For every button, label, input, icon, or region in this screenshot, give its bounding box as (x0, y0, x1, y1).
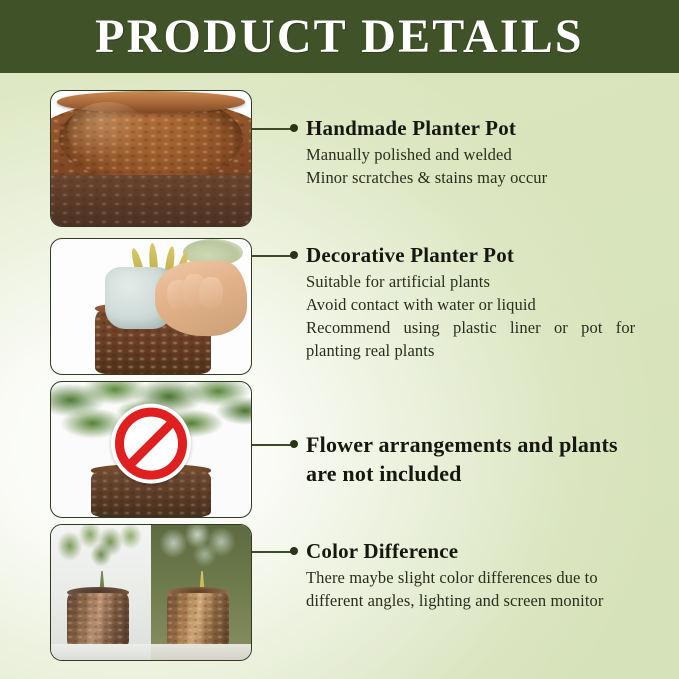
connector-line-3 (252, 444, 292, 446)
photo-outdoor-lighting (151, 525, 251, 660)
section-line-2-3: Recommend using plastic liner or pot for (306, 316, 672, 339)
section-line-1-2: Minor scratches & stains may occur (306, 166, 672, 189)
section-line-4-2: different angles, lighting and screen mo… (306, 589, 672, 612)
section-heading-4: Color Difference (306, 538, 672, 564)
text-block-1: Handmade Planter Pot Manually polished a… (306, 115, 672, 189)
connector-dot-4 (290, 547, 298, 555)
color-comparison-two-photos (50, 524, 252, 661)
section-line-4-1: There maybe slight color differences due… (306, 566, 672, 589)
header-band: PRODUCT DETAILS (0, 0, 679, 73)
section-line-1-1: Manually polished and welded (306, 143, 672, 166)
section-line-2-1: Suitable for artificial plants (306, 270, 672, 293)
prohibition-icon (111, 403, 191, 483)
section-line-2-2: Avoid contact with water or liquid (306, 293, 672, 316)
copper-hammered-pot-interior-photo (50, 90, 252, 227)
section-heading-3-line-1: Flower arrangements and plants (306, 431, 672, 458)
connector-line-4 (252, 551, 292, 553)
hand-placing-liner-pot-photo (50, 238, 252, 375)
connector-line-2 (252, 255, 292, 257)
product-details-poster: PRODUCT DETAILS Handmade Planter Pot Man… (0, 0, 679, 679)
text-block-3: Flower arrangements and plants are not i… (306, 431, 672, 489)
text-block-2: Decorative Planter Pot Suitable for arti… (306, 242, 672, 362)
photo-indoor-lighting (51, 525, 151, 660)
text-block-4: Color Difference There maybe slight colo… (306, 538, 672, 612)
connector-line-1 (252, 128, 292, 130)
section-line-2-4: planting real plants (306, 339, 672, 362)
connector-dot-3 (290, 440, 298, 448)
section-heading-2: Decorative Planter Pot (306, 242, 672, 268)
plant-with-prohibition-sign-photo (50, 381, 252, 518)
section-heading-1: Handmade Planter Pot (306, 115, 672, 141)
page-title: PRODUCT DETAILS (0, 9, 679, 65)
section-heading-3-line-2: are not included (306, 460, 672, 487)
connector-dot-2 (290, 251, 298, 259)
connector-dot-1 (290, 124, 298, 132)
